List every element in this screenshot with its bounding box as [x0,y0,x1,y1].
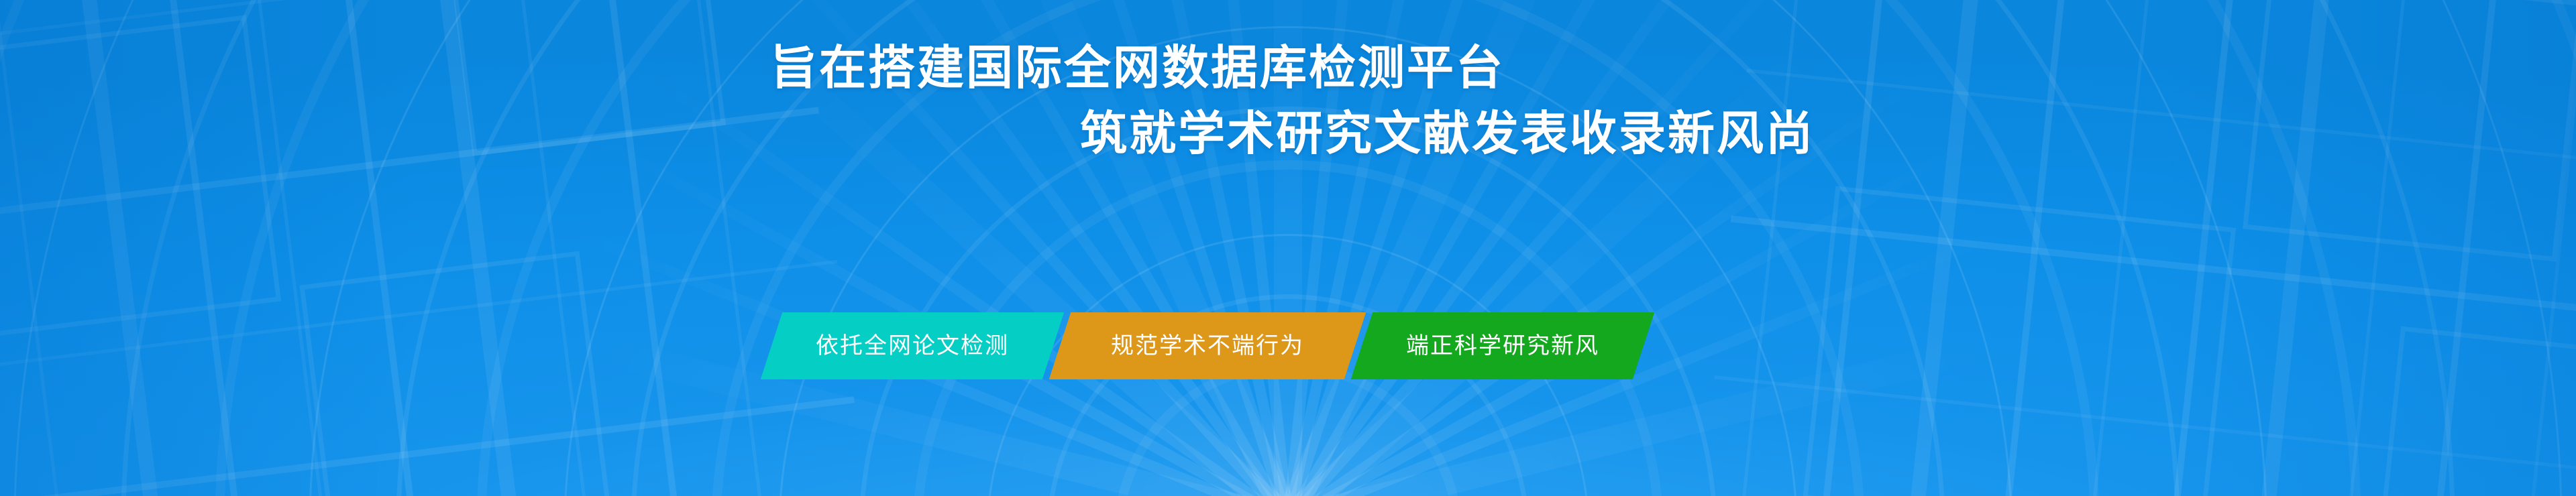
background-gradient [0,0,2576,496]
feature-tag-1-label: 依托全网论文检测 [816,334,1009,357]
feature-tag-3-label: 端正科学研究新风 [1406,334,1599,357]
background-rings [0,0,2576,496]
background-grid-left [0,0,2576,496]
headline-line-2: 筑就学术研究文献发表收录新风尚 [1080,101,2576,166]
background-vignette [0,0,2576,496]
feature-tag-3[interactable]: 端正科学研究新风 [1351,312,1654,379]
background-grid-right [0,0,2576,496]
hero-banner: 旨在搭建国际全网数据库检测平台 筑就学术研究文献发表收录新风尚 依托全网论文检测… [0,0,2576,496]
feature-tag-1[interactable]: 依托全网论文检测 [761,312,1064,379]
feature-tag-strip: 依托全网论文检测 规范学术不端行为 端正科学研究新风 [771,312,1644,379]
feature-tag-2[interactable]: 规范学术不端行为 [1049,312,1366,379]
headline-line-1: 旨在搭建国际全网数据库检测平台 [770,35,2576,101]
headline-block: 旨在搭建国际全网数据库检测平台 筑就学术研究文献发表收录新风尚 [0,35,2576,166]
background-rays [0,0,2576,496]
feature-tag-2-label: 规范学术不端行为 [1111,334,1304,357]
